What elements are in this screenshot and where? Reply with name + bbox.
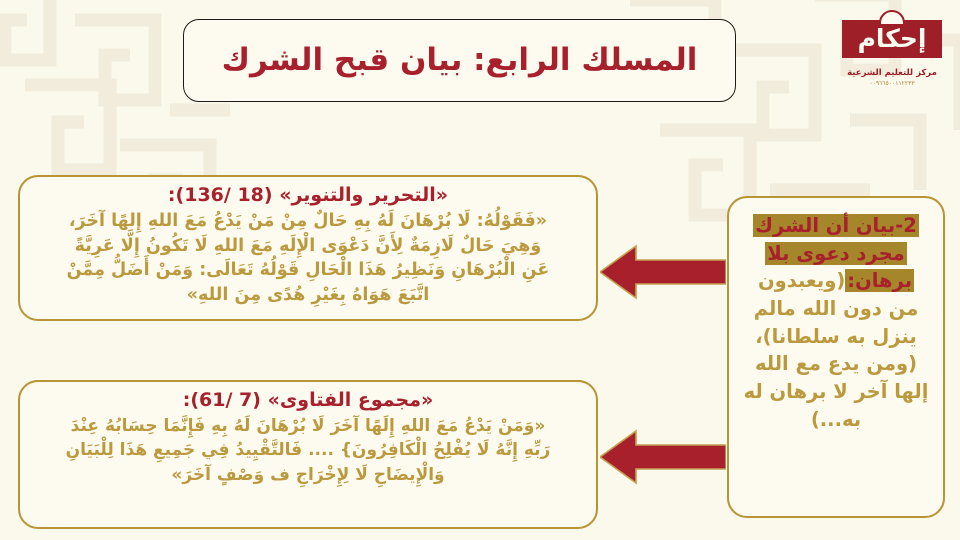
- quote-source-reference: «مجموع الفتاوى» (7 /61):: [34, 389, 582, 413]
- quote-source-reference: «التحرير والتنوير» (18 /136):: [34, 184, 582, 208]
- quote-card-majmu-fatawa: «مجموع الفتاوى» (7 /61): «وَمَنْ يَدْعُ …: [18, 380, 598, 529]
- quote-body: «وَمَنْ يَدْعُ مَعَ اللهِ إِلَهًا آخَرَ …: [34, 414, 582, 487]
- left-arrow-icon-2: [600, 428, 726, 486]
- sidebar-body-line: من دون الله مالم: [741, 295, 931, 323]
- sidebar-body-text: (ويعبدون: [758, 269, 845, 292]
- brand-logo: إحكام مركز للتعليم الشرعية ٠٠٩٦٦٥٠٠١١٢٢٣…: [838, 12, 946, 100]
- sidebar-highlight-line: مجرد دعوى بلا: [741, 240, 931, 268]
- sidebar-point-card: 2-بيان أن الشرك مجرد دعوى بلا برهان:(ويع…: [727, 196, 945, 518]
- sidebar-text: 2-بيان أن الشرك مجرد دعوى بلا برهان:(ويع…: [741, 212, 931, 434]
- sidebar-body-line: ينزل به سلطانا)،: [741, 323, 931, 351]
- logo-wordmark: إحكام: [842, 21, 942, 57]
- quote-body: «فَقَوْلُهُ: لَا بُرْهَانَ لَهُ بِهِ حَا…: [34, 209, 582, 308]
- quote-line: «وَمَنْ يَدْعُ مَعَ اللهِ إِلَهًا آخَرَ …: [34, 414, 582, 438]
- slide-canvas: المسلك الرابع: بيان قبح الشرك إحكام مركز…: [0, 0, 960, 540]
- quote-line: رَبِّهِ إِنَّهُ لَا يُفْلِحُ الْكَافِرُو…: [34, 438, 582, 462]
- slide-title-card: المسلك الرابع: بيان قبح الشرك: [183, 19, 736, 102]
- sidebar-highlight: برهان:: [845, 269, 914, 292]
- quote-line: عَنِ الْبُرْهَانِ وَنَظِيرُ هَذَا الْحَا…: [34, 258, 582, 283]
- sidebar-highlight: 2-بيان أن الشرك: [753, 214, 919, 237]
- quote-line: وَالْإِيضَاحِ لَا لِإِخْرَاجِ ف وَصْفٍ آ…: [34, 463, 582, 487]
- sidebar-body-line: (ومن يدع مع الله: [741, 350, 931, 378]
- page-title: المسلك الرابع: بيان قبح الشرك: [222, 42, 698, 79]
- sidebar-highlight: مجرد دعوى بلا: [765, 242, 906, 265]
- sidebar-body-line: إلها آخر لا برهان له: [741, 378, 931, 406]
- sidebar-highlight-line: 2-بيان أن الشرك: [741, 212, 931, 240]
- quote-line: اتَّبَعَ هَوَاهُ بِغَيْرِ هُدًى مِنَ الل…: [34, 283, 582, 308]
- quote-line: «فَقَوْلُهُ: لَا بُرْهَانَ لَهُ بِهِ حَا…: [34, 209, 582, 234]
- sidebar-body-line: به...): [741, 406, 931, 434]
- quote-line: وَهِيَ حَالٌ لَازِمَةٌ لِأَنَّ دَعْوَى ا…: [34, 234, 582, 259]
- quote-card-tahrir-tanwir: «التحرير والتنوير» (18 /136): «فَقَوْلُه…: [18, 175, 598, 321]
- logo-tagline: ٠٠٩٦٦٥٠٠١١٢٢٣٣: [838, 81, 946, 87]
- logo-mark-icon: إحكام: [842, 12, 942, 64]
- sidebar-mixed-line: برهان:(ويعبدون: [741, 267, 931, 295]
- left-arrow-icon-1: [600, 243, 726, 301]
- logo-subtitle: مركز للتعليم الشرعية: [838, 69, 946, 78]
